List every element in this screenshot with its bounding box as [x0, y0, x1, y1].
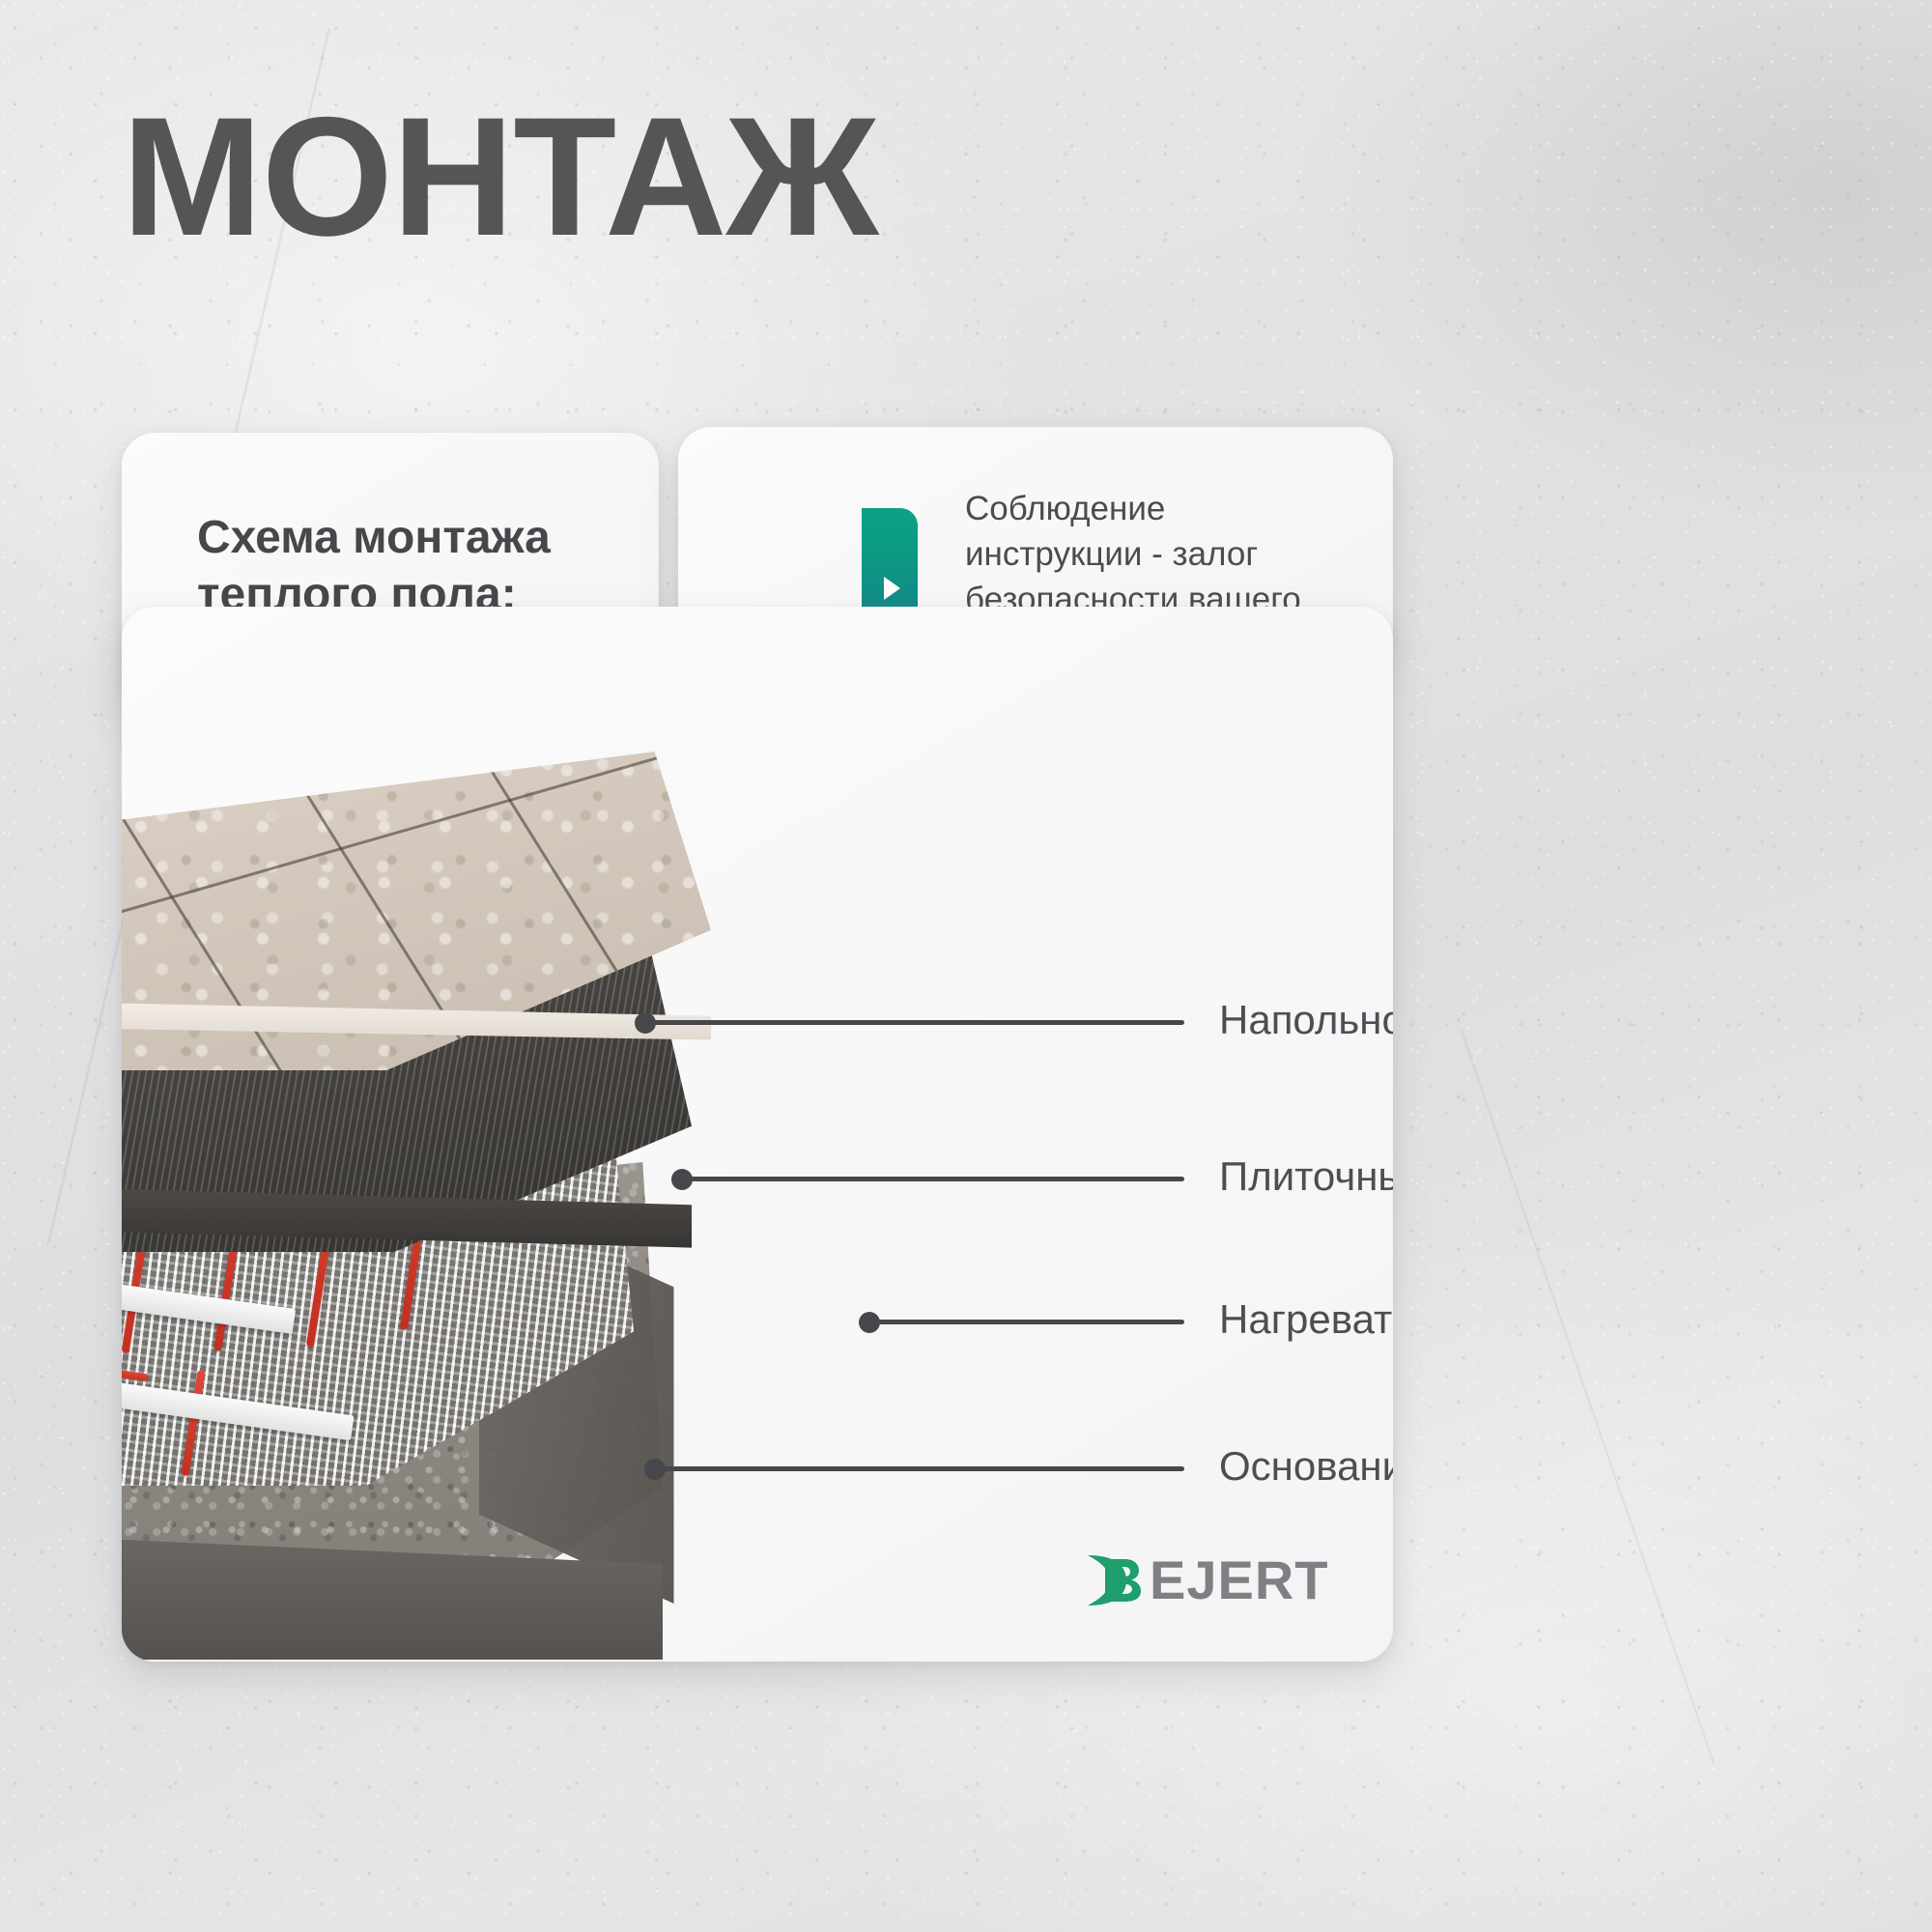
- leader-line-heating-mat: [867, 1320, 1184, 1324]
- leader-line-floor-base: [653, 1466, 1184, 1471]
- label-floor-covering: Напольное покрытие: [1219, 997, 1393, 1043]
- page-title: МОНТАЖ: [122, 93, 878, 262]
- label-heating-mat: Нагревательный мат: [1219, 1296, 1393, 1343]
- diagram-card: Напольное покрытие Плиточный клей Нагрев…: [122, 607, 1393, 1662]
- underfloor-heating-illustration: [122, 607, 914, 1662]
- bejert-wordmark: EJERT: [1150, 1548, 1329, 1611]
- bejert-logo: EJERT: [1084, 1548, 1329, 1611]
- bejert-b-leaf-icon: [1084, 1551, 1148, 1609]
- leader-line-tile-adhesive: [680, 1177, 1184, 1181]
- label-tile-adhesive: Плиточный клей: [1219, 1153, 1393, 1200]
- label-floor-base: Основание пола: [1219, 1443, 1393, 1490]
- infographic-canvas: МОНТАЖ Схема монтажа теплого пола: Соблю…: [0, 0, 1932, 1932]
- leader-line-floor-covering: [643, 1020, 1184, 1025]
